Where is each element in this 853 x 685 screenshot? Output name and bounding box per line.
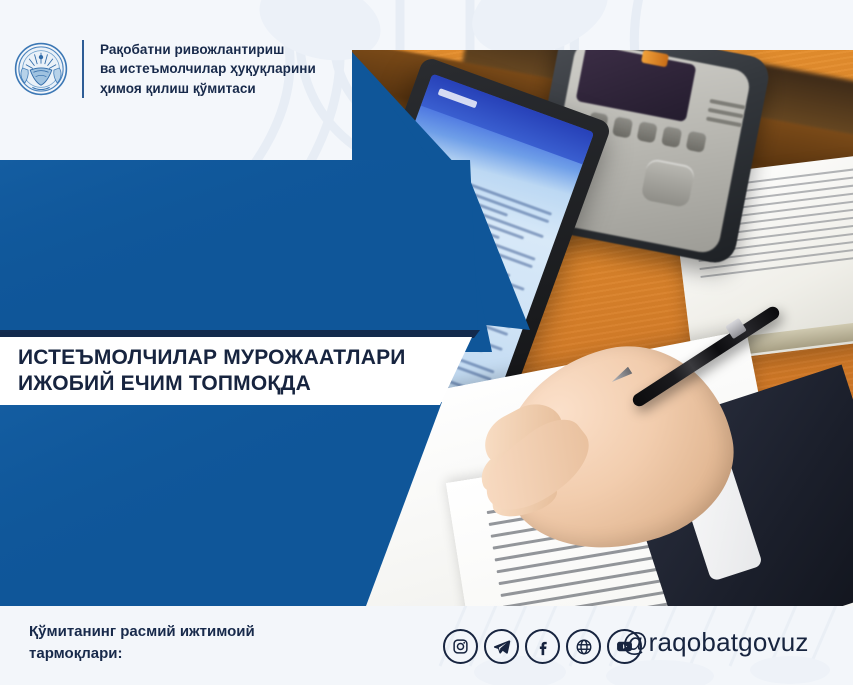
headline-line-2: ИЖОБИЙ ЕЧИМ ТОПМОҚДА: [18, 371, 472, 397]
footer: Қўмитанинг расмий ижтимоий тармоқлари:: [0, 606, 853, 685]
header-title-line-3: ҳимоя қилиш қўмитаси: [100, 79, 316, 98]
header-divider: [82, 40, 84, 98]
social-handle[interactable]: @raqobatgovuz: [622, 627, 809, 658]
header-title-line-2: ва истеъмолчилар ҳуқуқларини: [100, 59, 316, 78]
facebook-icon[interactable]: [525, 629, 560, 664]
instagram-icon[interactable]: [443, 629, 478, 664]
headline-line-1: ИСТЕЪМОЛЧИЛАР МУРОЖААТЛАРИ: [18, 345, 472, 371]
footer-inner: Қўмитанинг расмий ижтимоий тармоқлари:: [0, 606, 853, 685]
footer-label-line-2: тармоқлари:: [29, 643, 255, 665]
headline-banner: ИСТЕЪМОЛЧИЛАР МУРОЖААТЛАРИ ИЖОБИЙ ЕЧИМ Т…: [0, 337, 472, 405]
telegram-icon[interactable]: [484, 629, 519, 664]
website-globe-icon[interactable]: [566, 629, 601, 664]
header-title-block: Рақобатни ривожлантириш ва истеъмолчилар…: [100, 40, 316, 97]
footer-label-line-1: Қўмитанинг расмий ижтимоий: [29, 621, 255, 643]
header: Рақобатни ривожлантириш ва истеъмолчилар…: [14, 40, 316, 98]
footer-label: Қўмитанинг расмий ижтимоий тармоқлари:: [29, 621, 255, 665]
state-emblem-icon: [14, 42, 68, 96]
header-title-line-1: Рақобатни ривожлантириш: [100, 40, 316, 59]
voting-console-main-button: [640, 158, 695, 208]
social-links: [443, 629, 642, 664]
social-media-card: Рақобатни ривожлантириш ва истеъмолчилар…: [0, 0, 853, 685]
hero-photo: [352, 50, 853, 606]
